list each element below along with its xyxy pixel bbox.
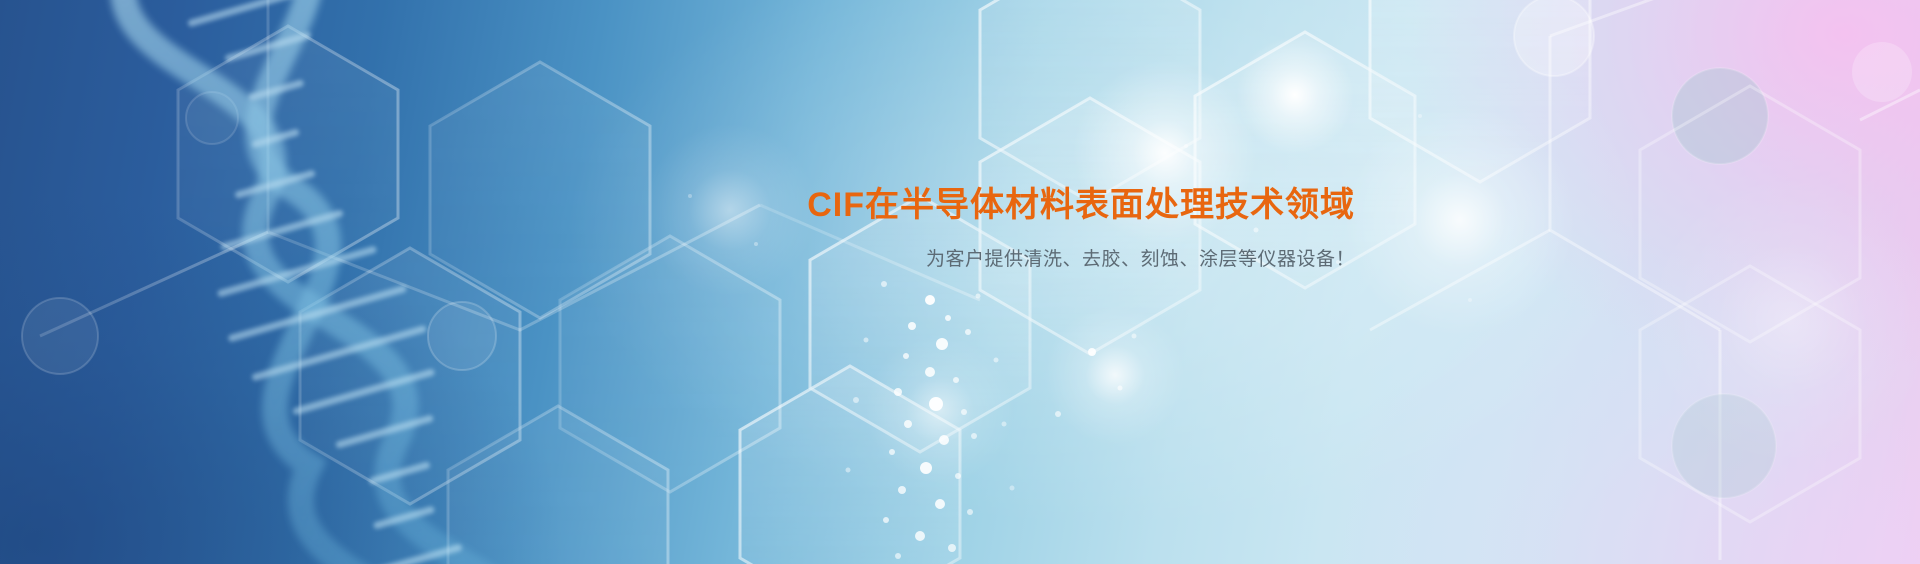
banner-subheadline: 为客户提供清洗、去胶、刻蚀、涂层等仪器设备！ — [0, 244, 1355, 271]
particle-burst-icon — [0, 0, 1920, 564]
hero-banner: CIF在半导体材料表面处理技术领域 为客户提供清洗、去胶、刻蚀、涂层等仪器设备！ — [0, 0, 1920, 564]
banner-headline: CIF在半导体材料表面处理技术领域 — [0, 184, 1355, 227]
banner-text-block: CIF在半导体材料表面处理技术领域 为客户提供清洗、去胶、刻蚀、涂层等仪器设备！ — [0, 184, 1355, 271]
